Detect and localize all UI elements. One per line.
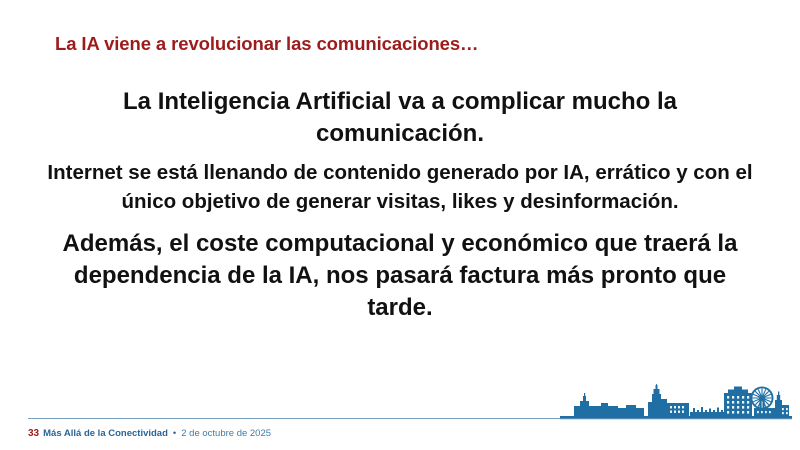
- paragraph-lead: La Inteligencia Artificial va a complica…: [40, 86, 760, 149]
- footer-divider: [28, 418, 792, 419]
- page-title: La IA viene a revolucionar las comunicac…: [55, 34, 755, 54]
- page-number: 33: [28, 429, 39, 439]
- footer: 33 Más Allá de la Conectividad • 2 de oc…: [28, 429, 271, 439]
- slide-body: La Inteligencia Artificial va a complica…: [40, 86, 760, 324]
- footer-separator-bullet: •: [173, 429, 176, 439]
- paragraph-closing: Además, el coste computacional y económi…: [40, 228, 760, 324]
- footer-date: 2 de octubre de 2025: [181, 429, 271, 439]
- paragraph-middle: Internet se está llenando de contenido g…: [40, 159, 760, 216]
- footer-event-name: Más Allá de la Conectividad: [43, 429, 168, 439]
- slide: La IA viene a revolucionar las comunicac…: [0, 0, 800, 450]
- city-skyline-icon: [560, 384, 792, 420]
